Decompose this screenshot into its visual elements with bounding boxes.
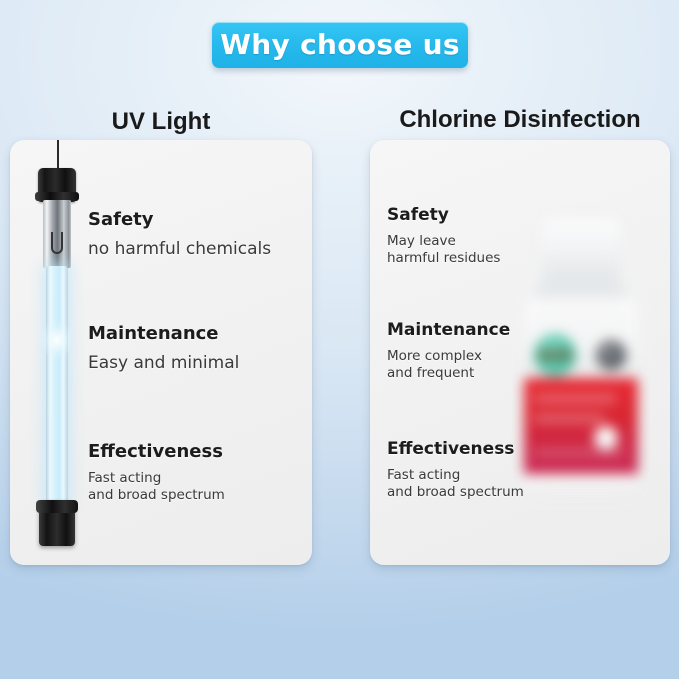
column-title-chlorine-disinfection: Chlorine Disinfection — [370, 108, 670, 132]
uv-lamp-top-cap — [38, 168, 76, 202]
feature-title: Safety — [88, 210, 271, 230]
feature-desc: Easy and minimal — [88, 353, 239, 374]
bottle-green-badge-icon — [534, 334, 576, 376]
bottle-white-dot-icon — [594, 426, 618, 450]
bottle-neck — [536, 284, 626, 302]
feature-title: Maintenance — [387, 321, 510, 340]
bottle-dark-badge-icon — [596, 340, 626, 370]
bottle-base — [526, 474, 636, 496]
column-title-uv-light: UV Light — [10, 110, 312, 134]
banner-pill: Why choose us — [212, 22, 468, 68]
feature-title: Effectiveness — [387, 440, 524, 459]
bottle-label — [524, 378, 638, 476]
uv-lamp-bottom-cap — [39, 500, 75, 546]
feature-uv-maintenance: Maintenance Easy and minimal — [88, 324, 239, 374]
feature-chlorine-maintenance: Maintenance More complex and frequent — [387, 321, 510, 381]
bottle-label-text-line — [534, 414, 604, 423]
feature-title: Maintenance — [88, 324, 239, 344]
banner-why-choose-us: Why choose us — [212, 22, 468, 68]
feature-title: Safety — [387, 206, 500, 225]
feature-desc: More complex and frequent — [387, 348, 510, 382]
bottle-label-text-line — [534, 394, 616, 403]
card-chlorine-disinfection: Safety May leave harmful residues Mainte… — [370, 140, 670, 565]
feature-uv-safety: Safety no harmful chemicals — [88, 210, 271, 260]
uv-lamp-glow-tube — [46, 266, 68, 506]
feature-chlorine-safety: Safety May leave harmful residues — [387, 206, 500, 266]
feature-title: Effectiveness — [88, 442, 225, 462]
feature-uv-effectiveness: Effectiveness Fast acting and broad spec… — [88, 442, 225, 504]
bottle-label-text-line — [534, 448, 624, 457]
feature-desc: May leave harmful residues — [387, 233, 500, 267]
uv-lamp-chrome-body — [43, 200, 71, 268]
banner-label: Why choose us — [220, 31, 460, 59]
card-uv-light: Safety no harmful chemicals Maintenance … — [10, 140, 312, 565]
uv-lamp-marking — [51, 232, 63, 254]
feature-chlorine-effectiveness: Effectiveness Fast acting and broad spec… — [387, 440, 524, 500]
feature-desc: Fast acting and broad spectrum — [88, 470, 225, 504]
uv-lamp-cord-icon — [57, 140, 59, 170]
bottle-cap — [542, 218, 620, 290]
feature-desc: Fast acting and broad spectrum — [387, 467, 524, 501]
feature-desc: no harmful chemicals — [88, 239, 271, 260]
bottle-body — [524, 298, 638, 494]
uv-lamp-highlight — [40, 320, 74, 360]
chlorine-bottle-image — [512, 218, 648, 508]
